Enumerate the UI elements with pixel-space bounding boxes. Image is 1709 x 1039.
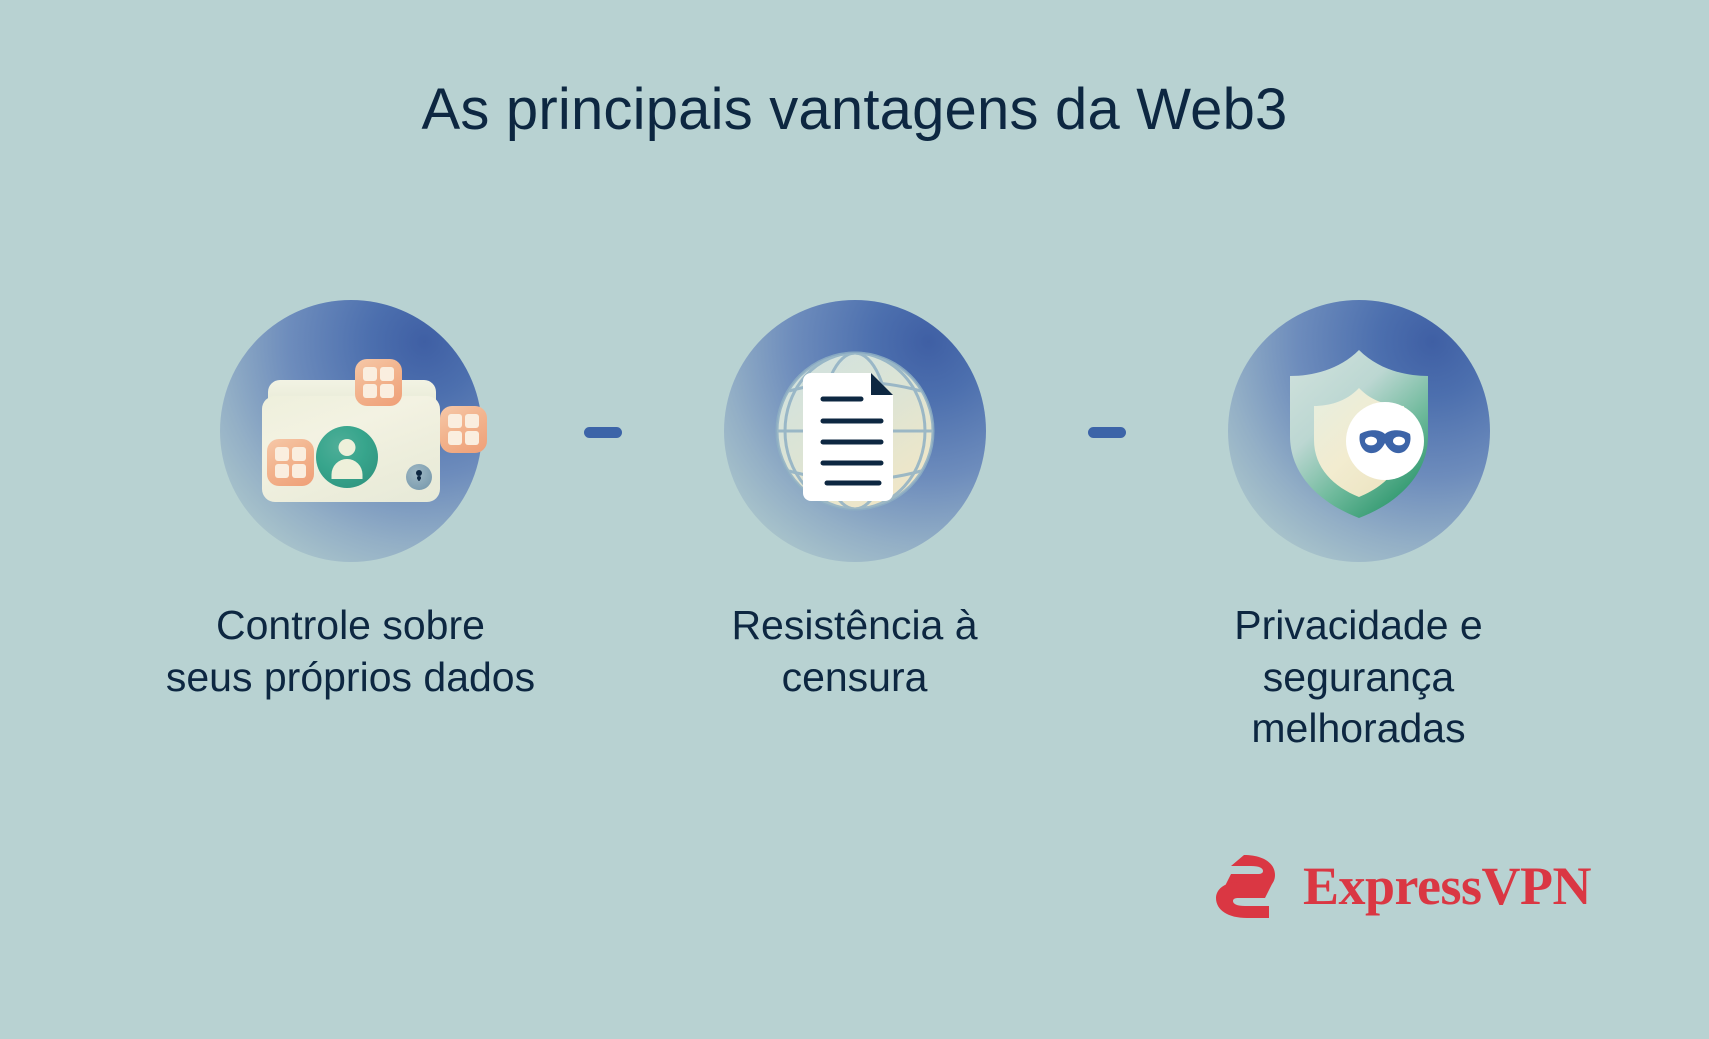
grid-tile-icon	[267, 439, 314, 486]
benefit-label-line: seus próprios dados	[166, 652, 535, 704]
infographic-canvas: As principais vantagens da Web3	[0, 0, 1709, 1039]
page-title: As principais vantagens da Web3	[0, 78, 1709, 142]
grid-tile-icon	[355, 359, 402, 406]
benefit-label: Controle sobre seus próprios dados	[166, 600, 535, 703]
keyhole-icon	[406, 464, 432, 490]
wallet-user-data-icon	[220, 300, 482, 562]
benefit-label-line: Controle sobre	[166, 600, 535, 652]
benefit-card-data-control: Controle sobre seus próprios dados	[118, 300, 584, 703]
grid-tile-icon	[440, 406, 487, 453]
benefit-label-line: melhoradas	[1234, 703, 1482, 755]
document-icon	[775, 351, 935, 511]
user-avatar-icon	[316, 426, 378, 488]
globe-document-icon	[724, 300, 986, 562]
expressvpn-logo[interactable]: ExpressVPN	[1211, 853, 1591, 919]
benefit-card-privacy-security: Privacidade e segurança melhoradas	[1126, 300, 1592, 755]
benefit-label-line: censura	[731, 652, 977, 704]
benefit-card-censorship-resistance: Resistência à censura	[622, 300, 1088, 703]
expressvpn-e-mark-icon	[1211, 853, 1289, 919]
separator-dash	[584, 427, 622, 438]
benefits-row: Controle sobre seus próprios dados	[0, 300, 1709, 755]
benefit-label-line: Privacidade e	[1234, 600, 1482, 652]
avatar-body-shape	[331, 459, 362, 479]
mask-badge-background	[1346, 402, 1424, 480]
avatar-head-shape	[338, 439, 355, 456]
shield-mask-icon	[1228, 300, 1490, 562]
separator-dash	[1088, 427, 1126, 438]
benefit-label-line: Resistência à	[731, 600, 977, 652]
benefit-label: Privacidade e segurança melhoradas	[1234, 600, 1482, 755]
expressvpn-wordmark: ExpressVPN	[1303, 859, 1591, 913]
benefit-label: Resistência à censura	[731, 600, 977, 703]
benefit-label-line: segurança	[1234, 652, 1482, 704]
mask-icon	[1346, 402, 1424, 480]
